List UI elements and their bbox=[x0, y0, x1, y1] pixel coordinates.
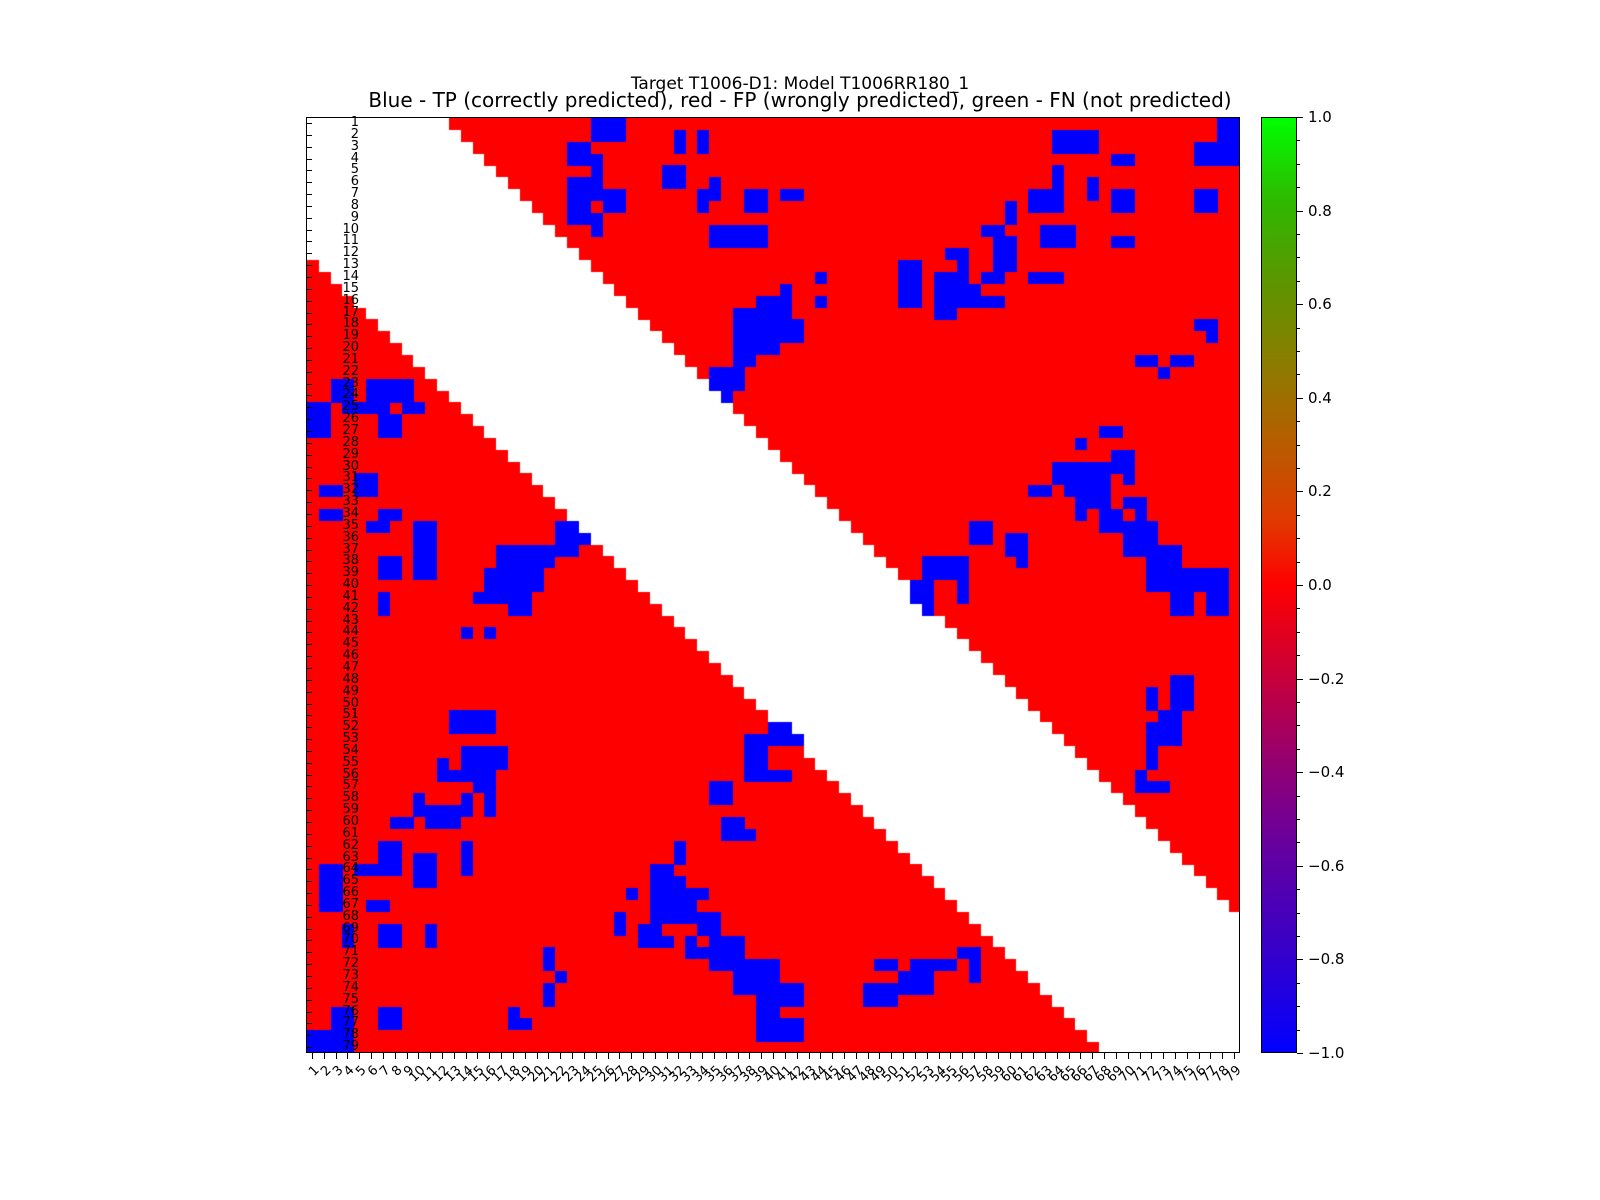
y-tickmark bbox=[306, 1012, 312, 1013]
y-tickmark bbox=[306, 644, 312, 645]
colorbar-minor-tick bbox=[1297, 515, 1300, 516]
colorbar-tick-label: −0.4 bbox=[1308, 765, 1344, 779]
y-tickmark bbox=[306, 940, 312, 941]
x-tickmark bbox=[1163, 1053, 1164, 1059]
contact-matrix-canvas[interactable] bbox=[307, 118, 1240, 1053]
y-tickmark bbox=[306, 194, 312, 195]
x-tickmark bbox=[1222, 1053, 1223, 1059]
y-tickmark bbox=[306, 952, 312, 953]
x-tickmark bbox=[690, 1053, 691, 1059]
x-tickmark bbox=[667, 1053, 668, 1059]
y-tickmark bbox=[306, 668, 312, 669]
x-tickmark bbox=[678, 1053, 679, 1059]
y-tickmark bbox=[306, 526, 312, 527]
y-tickmark bbox=[306, 550, 312, 551]
x-tickmark bbox=[383, 1053, 384, 1059]
x-tickmark bbox=[1140, 1053, 1141, 1059]
y-tickmark bbox=[306, 443, 312, 444]
x-tickmark bbox=[773, 1053, 774, 1059]
x-tickmark bbox=[608, 1053, 609, 1059]
colorbar-minor-tick bbox=[1297, 538, 1300, 539]
colorbar-tickmark bbox=[1297, 866, 1303, 867]
y-tickmark bbox=[306, 502, 312, 503]
y-tickmark bbox=[306, 917, 312, 918]
colorbar-minor-tick bbox=[1297, 351, 1300, 352]
colorbar-minor-tick bbox=[1297, 632, 1300, 633]
x-tickmark bbox=[430, 1053, 431, 1059]
x-tickmark bbox=[359, 1053, 360, 1059]
x-tickmark bbox=[407, 1053, 408, 1059]
colorbar-minor-tick bbox=[1297, 140, 1300, 141]
x-tickmark bbox=[820, 1053, 821, 1059]
y-tick-label: 79 bbox=[319, 1041, 359, 1053]
x-tickmark bbox=[1199, 1053, 1200, 1059]
y-tickmark bbox=[306, 395, 312, 396]
x-tickmark bbox=[489, 1053, 490, 1059]
y-tickmark bbox=[306, 407, 312, 408]
x-tickmark bbox=[998, 1053, 999, 1059]
x-tickmark bbox=[702, 1053, 703, 1059]
y-tickmark bbox=[306, 763, 312, 764]
contact-map-figure: Target T1006-D1: Model T1006RR180_1 Corr… bbox=[0, 0, 1600, 1200]
y-tickmark bbox=[306, 1023, 312, 1024]
y-tickmark bbox=[306, 336, 312, 337]
y-tickmark bbox=[306, 621, 312, 622]
x-tickmark bbox=[347, 1053, 348, 1059]
x-tickmark bbox=[477, 1053, 478, 1059]
x-tickmark bbox=[584, 1053, 585, 1059]
x-tickmark bbox=[619, 1053, 620, 1059]
y-tickmark bbox=[306, 632, 312, 633]
y-tickmark bbox=[306, 585, 312, 586]
y-tickmark bbox=[306, 597, 312, 598]
y-tickmark bbox=[306, 704, 312, 705]
x-tickmark bbox=[1033, 1053, 1034, 1059]
x-tickmark bbox=[596, 1053, 597, 1059]
x-tickmark bbox=[927, 1053, 928, 1059]
x-tickmark bbox=[939, 1053, 940, 1059]
y-tickmark bbox=[306, 561, 312, 562]
x-tickmark bbox=[442, 1053, 443, 1059]
colorbar-minor-tick bbox=[1297, 374, 1300, 375]
x-tickmark bbox=[844, 1053, 845, 1059]
colorbar-tickmark bbox=[1297, 211, 1303, 212]
x-tickmark bbox=[1104, 1053, 1105, 1059]
x-tickmark bbox=[560, 1053, 561, 1059]
colorbar-gradient bbox=[1261, 117, 1297, 1053]
colorbar-minor-tick bbox=[1297, 608, 1300, 609]
y-tickmark bbox=[306, 739, 312, 740]
colorbar-minor-tick bbox=[1297, 1006, 1300, 1007]
x-tickmark bbox=[1151, 1053, 1152, 1059]
x-tickmark bbox=[1069, 1053, 1070, 1059]
y-tickmark bbox=[306, 846, 312, 847]
x-tickmark bbox=[513, 1053, 514, 1059]
colorbar-tickmark bbox=[1297, 491, 1303, 492]
colorbar-tick-label: 1.0 bbox=[1308, 110, 1332, 124]
y-tickmark bbox=[306, 253, 312, 254]
y-tickmark bbox=[306, 514, 312, 515]
y-tickmark bbox=[306, 170, 312, 171]
x-tickmark bbox=[371, 1053, 372, 1059]
x-tickmark bbox=[868, 1053, 869, 1059]
y-tickmark bbox=[306, 159, 312, 160]
colorbar-minor-tick bbox=[1297, 655, 1300, 656]
y-tickmark bbox=[306, 265, 312, 266]
colorbar-minor-tick bbox=[1297, 702, 1300, 703]
y-tickmark bbox=[306, 147, 312, 148]
y-tickmark bbox=[306, 715, 312, 716]
y-tickmark bbox=[306, 206, 312, 207]
x-tickmark bbox=[631, 1053, 632, 1059]
colorbar-minor-tick bbox=[1297, 187, 1300, 188]
y-tickmark bbox=[306, 822, 312, 823]
y-tickmark bbox=[306, 348, 312, 349]
contact-map-plot-area[interactable] bbox=[306, 117, 1240, 1053]
axes-title: Blue - TP (correctly predicted), red - F… bbox=[0, 88, 1600, 112]
colorbar-minor-tick bbox=[1297, 234, 1300, 235]
x-tickmark bbox=[915, 1053, 916, 1059]
x-tickmark bbox=[548, 1053, 549, 1059]
y-tickmark bbox=[306, 869, 312, 870]
x-tickmark bbox=[466, 1053, 467, 1059]
colorbar-tick-label: −0.2 bbox=[1308, 672, 1344, 686]
y-tickmark bbox=[306, 751, 312, 752]
colorbar-tickmark bbox=[1297, 1053, 1303, 1054]
x-tickmark bbox=[785, 1053, 786, 1059]
colorbar-tickmark bbox=[1297, 585, 1303, 586]
colorbar-minor-tick bbox=[1297, 562, 1300, 563]
x-tickmark bbox=[1210, 1053, 1211, 1059]
colorbar-tickmark bbox=[1297, 117, 1303, 118]
x-tickmark bbox=[1057, 1053, 1058, 1059]
x-tickmark bbox=[1045, 1053, 1046, 1059]
y-tickmark bbox=[306, 289, 312, 290]
x-tickmark bbox=[1128, 1053, 1129, 1059]
x-tickmark bbox=[336, 1053, 337, 1059]
colorbar-tick-label: 0.4 bbox=[1308, 391, 1332, 405]
colorbar-tickmark bbox=[1297, 772, 1303, 773]
y-tickmark bbox=[306, 727, 312, 728]
y-tickmark bbox=[306, 786, 312, 787]
y-tickmark bbox=[306, 538, 312, 539]
x-tickmark bbox=[501, 1053, 502, 1059]
y-tickmark bbox=[306, 988, 312, 989]
y-tickmark bbox=[306, 692, 312, 693]
y-tickmark bbox=[306, 609, 312, 610]
y-tickmark bbox=[306, 893, 312, 894]
x-tickmark bbox=[643, 1053, 644, 1059]
y-tickmark bbox=[306, 301, 312, 302]
x-tickmark bbox=[1116, 1053, 1117, 1059]
y-tickmark bbox=[306, 798, 312, 799]
y-tickmark bbox=[306, 419, 312, 420]
y-tickmark bbox=[306, 182, 312, 183]
y-tickmark bbox=[306, 360, 312, 361]
colorbar-tickmark bbox=[1297, 679, 1303, 680]
y-tickmark bbox=[306, 230, 312, 231]
colorbar-minor-tick bbox=[1297, 819, 1300, 820]
x-tickmark bbox=[974, 1053, 975, 1059]
x-tickmark bbox=[1092, 1053, 1093, 1059]
colorbar-minor-tick bbox=[1297, 164, 1300, 165]
y-tickmark bbox=[306, 277, 312, 278]
y-tickmark bbox=[306, 976, 312, 977]
y-tickmark bbox=[306, 384, 312, 385]
y-tickmark bbox=[306, 313, 312, 314]
y-tickmark bbox=[306, 372, 312, 373]
y-tickmark bbox=[306, 573, 312, 574]
x-tickmark bbox=[738, 1053, 739, 1059]
x-tickmark bbox=[809, 1053, 810, 1059]
colorbar-minor-tick bbox=[1297, 468, 1300, 469]
y-tickmark bbox=[306, 218, 312, 219]
y-tickmark bbox=[306, 123, 312, 124]
x-tickmark bbox=[903, 1053, 904, 1059]
x-tickmark bbox=[525, 1053, 526, 1059]
colorbar-minor-tick bbox=[1297, 842, 1300, 843]
x-tickmark bbox=[572, 1053, 573, 1059]
y-tickmark bbox=[306, 241, 312, 242]
x-tickmark bbox=[797, 1053, 798, 1059]
colorbar[interactable] bbox=[1261, 117, 1297, 1053]
colorbar-minor-tick bbox=[1297, 889, 1300, 890]
y-tickmark bbox=[306, 810, 312, 811]
x-tickmark bbox=[454, 1053, 455, 1059]
x-tickmark bbox=[1080, 1053, 1081, 1059]
y-tickmark bbox=[306, 455, 312, 456]
colorbar-minor-tick bbox=[1297, 421, 1300, 422]
x-tickmark bbox=[537, 1053, 538, 1059]
y-tickmark bbox=[306, 1000, 312, 1001]
x-tickmark bbox=[950, 1053, 951, 1059]
x-tickmark bbox=[726, 1053, 727, 1059]
colorbar-tick-label: −1.0 bbox=[1308, 1046, 1344, 1060]
colorbar-tick-label: 0.0 bbox=[1308, 578, 1332, 592]
colorbar-minor-tick bbox=[1297, 1030, 1300, 1031]
colorbar-tickmark bbox=[1297, 959, 1303, 960]
x-tickmark bbox=[1175, 1053, 1176, 1059]
y-tickmark bbox=[306, 656, 312, 657]
colorbar-minor-tick bbox=[1297, 257, 1300, 258]
y-tickmark bbox=[306, 834, 312, 835]
y-tickmark bbox=[306, 490, 312, 491]
x-tickmark bbox=[856, 1053, 857, 1059]
colorbar-minor-tick bbox=[1297, 936, 1300, 937]
x-tickmark bbox=[312, 1053, 313, 1059]
y-tickmark bbox=[306, 858, 312, 859]
y-tickmark bbox=[306, 964, 312, 965]
y-tickmark bbox=[306, 1047, 312, 1048]
x-tickmark bbox=[891, 1053, 892, 1059]
x-tickmark bbox=[395, 1053, 396, 1059]
x-tickmark bbox=[324, 1053, 325, 1059]
y-tickmark bbox=[306, 1035, 312, 1036]
colorbar-tickmark bbox=[1297, 398, 1303, 399]
y-tickmark bbox=[306, 135, 312, 136]
colorbar-minor-tick bbox=[1297, 445, 1300, 446]
colorbar-tick-label: −0.6 bbox=[1308, 859, 1344, 873]
x-tickmark bbox=[1187, 1053, 1188, 1059]
x-tickmark bbox=[655, 1053, 656, 1059]
x-tickmark bbox=[761, 1053, 762, 1059]
colorbar-tick-label: 0.6 bbox=[1308, 297, 1332, 311]
x-tickmark bbox=[986, 1053, 987, 1059]
colorbar-tick-label: 0.8 bbox=[1308, 204, 1332, 218]
x-tickmark bbox=[1021, 1053, 1022, 1059]
colorbar-minor-tick bbox=[1297, 725, 1300, 726]
y-tickmark bbox=[306, 431, 312, 432]
x-tickmark bbox=[418, 1053, 419, 1059]
x-tickmark bbox=[1234, 1053, 1235, 1059]
x-tickmark bbox=[714, 1053, 715, 1059]
x-tickmark bbox=[832, 1053, 833, 1059]
y-tickmark bbox=[306, 680, 312, 681]
y-tickmark bbox=[306, 775, 312, 776]
colorbar-minor-tick bbox=[1297, 328, 1300, 329]
colorbar-tick-label: 0.2 bbox=[1308, 484, 1332, 498]
y-tickmark bbox=[306, 467, 312, 468]
x-tickmark bbox=[879, 1053, 880, 1059]
colorbar-minor-tick bbox=[1297, 281, 1300, 282]
y-tickmark bbox=[306, 929, 312, 930]
y-tickmark bbox=[306, 881, 312, 882]
colorbar-tickmark bbox=[1297, 304, 1303, 305]
y-tickmark bbox=[306, 478, 312, 479]
y-tickmark bbox=[306, 324, 312, 325]
x-tickmark bbox=[962, 1053, 963, 1059]
colorbar-minor-tick bbox=[1297, 749, 1300, 750]
colorbar-minor-tick bbox=[1297, 913, 1300, 914]
x-tickmark bbox=[749, 1053, 750, 1059]
colorbar-minor-tick bbox=[1297, 983, 1300, 984]
colorbar-tick-label: −0.8 bbox=[1308, 952, 1344, 966]
colorbar-minor-tick bbox=[1297, 796, 1300, 797]
y-tickmark bbox=[306, 905, 312, 906]
x-tickmark bbox=[1010, 1053, 1011, 1059]
